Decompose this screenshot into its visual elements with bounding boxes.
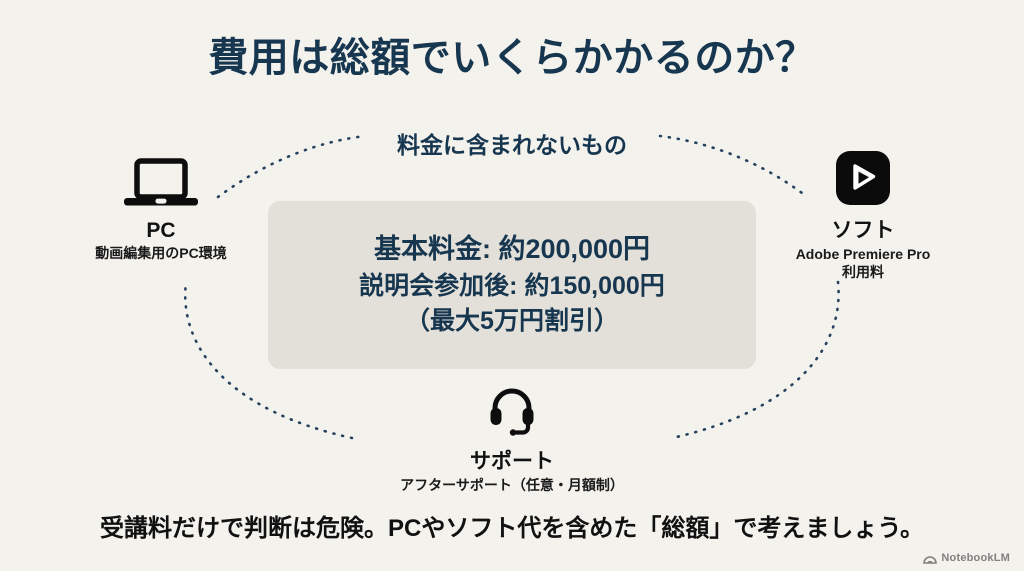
node-pc: PC 動画編集用のPC環境 xyxy=(31,152,291,263)
cost-line-base: 基本料金: 約200,000円 xyxy=(374,230,650,268)
notebooklm-watermark: NotebookLM xyxy=(923,552,1010,564)
headset-icon xyxy=(380,378,644,436)
node-software-desc-line1: Adobe Premiere Pro xyxy=(733,246,993,264)
node-software-title: ソフト xyxy=(733,214,993,244)
node-support: サポート アフターサポート（任意・月額制） xyxy=(380,378,644,495)
app-tile xyxy=(836,151,890,205)
node-software: ソフト Adobe Premiere Pro 利用料 xyxy=(733,147,993,282)
watermark-label: NotebookLM xyxy=(941,552,1010,564)
node-pc-desc: 動画編集用のPC環境 xyxy=(31,245,291,263)
bottom-caption: 受講料だけで判断は危険。PCやソフト代を含めた「総額」で考えましょう。 xyxy=(0,508,1024,543)
node-support-title: サポート xyxy=(380,445,644,475)
notebooklm-logo-icon xyxy=(923,552,937,564)
cost-line-discount: （最大5万円割引） xyxy=(405,304,619,340)
laptop-icon xyxy=(31,152,291,210)
node-pc-title: PC xyxy=(31,219,291,243)
premiere-app-icon xyxy=(733,147,993,205)
node-software-desc-line2: 利用料 xyxy=(733,264,993,282)
cost-line-after-seminar: 説明会参加後: 約150,000円 xyxy=(359,269,665,305)
cost-summary-box: 基本料金: 約200,000円 説明会参加後: 約150,000円 （最大5万円… xyxy=(268,201,756,369)
slide-canvas: 費用は総額でいくらかかるのか？ 料金に含まれないもの 基本料金: 約200,00… xyxy=(0,0,1024,571)
node-support-desc: アフターサポート（任意・月額制） xyxy=(380,477,644,495)
